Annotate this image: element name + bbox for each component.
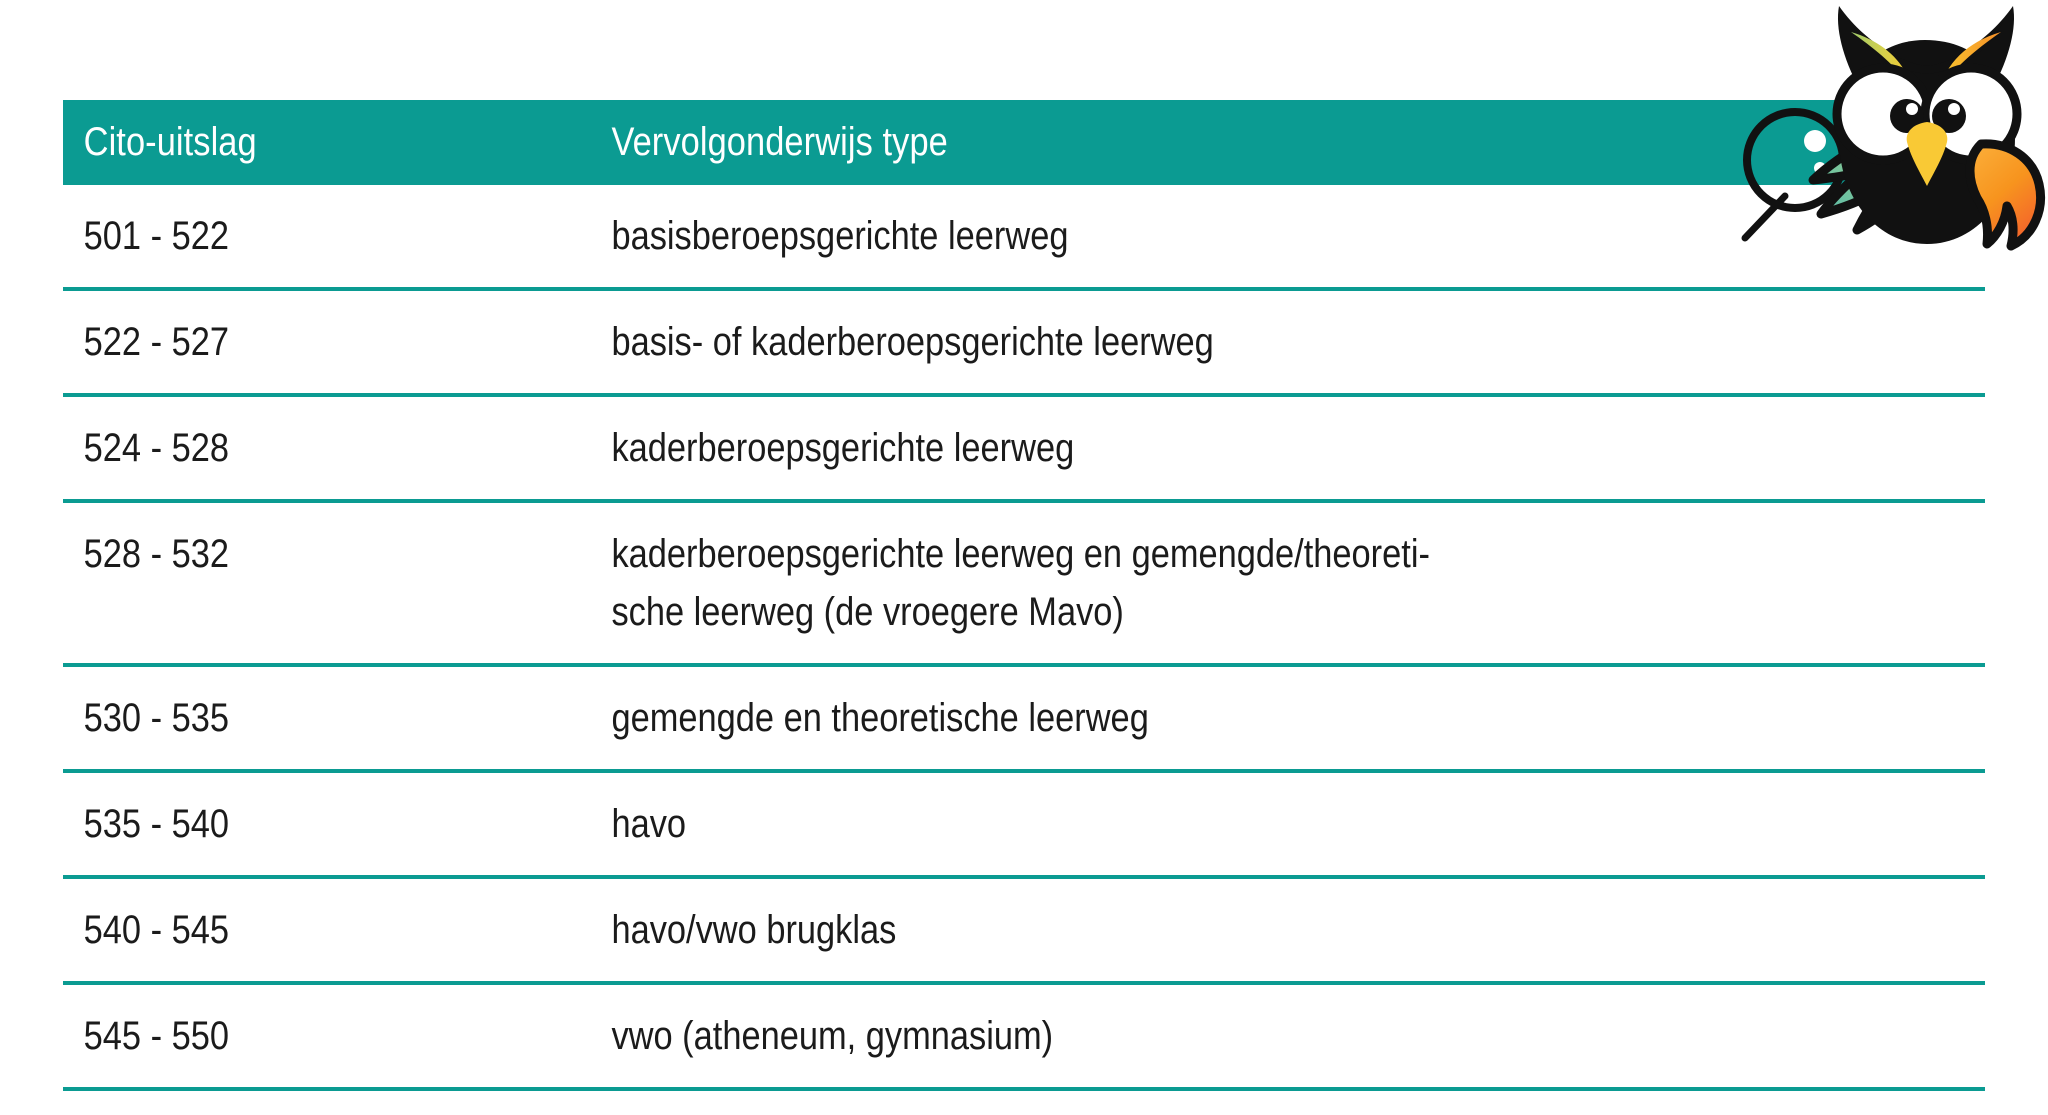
owl-eyebrow-right — [1939, 32, 2001, 92]
cell-education-type: havo — [608, 773, 1792, 875]
owl-eyebrow-left — [1851, 32, 1913, 92]
cell-cito-score: 540 - 545 — [63, 879, 532, 981]
owl-ear-left — [1838, 6, 1893, 88]
cito-results-table: Cito-uitslag Vervolgonderwijs type 501 -… — [63, 100, 1985, 1091]
cell-education-type: basis- of kaderberoepsgerichte leerweg — [608, 291, 1792, 393]
cell-cito-score: 535 - 540 — [63, 773, 532, 875]
table-row: 524 - 528 kaderberoepsgerichte leerweg — [63, 397, 1985, 503]
table-row: 501 - 522 basisberoepsgerichte leerweg — [63, 185, 1985, 291]
cell-education-type: vwo (atheneum, gymnasium) — [608, 985, 1792, 1087]
column-header-vervolgonderwijs-type: Vervolgonderwijs type — [608, 120, 1792, 165]
cell-cito-score: 528 - 532 — [63, 503, 532, 605]
cell-education-type: kaderberoepsgerichte leerweg en gemengde… — [608, 503, 1792, 663]
cell-cito-score: 530 - 535 — [63, 667, 532, 769]
table-row: 540 - 545 havo/vwo brugklas — [63, 879, 1985, 985]
table-row: 545 - 550 vwo (atheneum, gymnasium) — [63, 985, 1985, 1091]
owl-head-top — [1851, 22, 2003, 74]
column-header-cito-uitslag: Cito-uitslag — [63, 120, 532, 165]
table-header-row: Cito-uitslag Vervolgonderwijs type — [63, 100, 1985, 185]
cell-cito-score: 501 - 522 — [63, 185, 532, 287]
cell-cito-score: 545 - 550 — [63, 985, 532, 1087]
cell-education-type: kaderberoepsgerichte leerweg — [608, 397, 1792, 499]
table-row: 528 - 532 kaderberoepsgerichte leerweg e… — [63, 503, 1985, 667]
owl-ear-right — [1959, 6, 2014, 88]
cell-education-type: gemengde en theoretische leerweg — [608, 667, 1792, 769]
table-row: 522 - 527 basis- of kaderberoepsgerichte… — [63, 291, 1985, 397]
cell-education-type: havo/vwo brugklas — [608, 879, 1792, 981]
table-row: 530 - 535 gemengde en theoretische leerw… — [63, 667, 1985, 773]
cell-cito-score: 522 - 527 — [63, 291, 532, 393]
table-row: 535 - 540 havo — [63, 773, 1985, 879]
cell-cito-score: 524 - 528 — [63, 397, 532, 499]
cell-education-type: basisberoepsgerichte leerweg — [608, 185, 1792, 287]
